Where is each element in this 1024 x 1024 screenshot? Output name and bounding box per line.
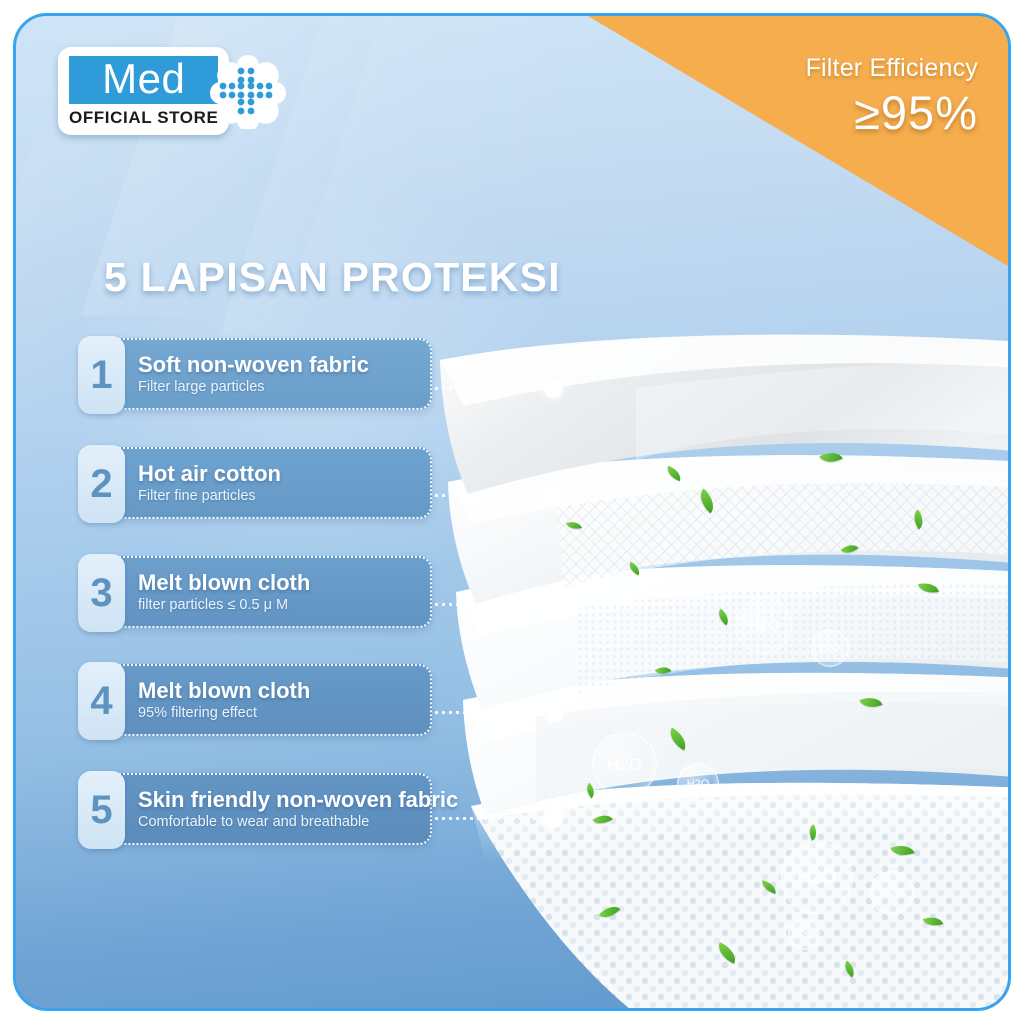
layer-card-4[interactable]: 4 Melt blown cloth 95% filtering effect: [82, 664, 432, 736]
connector-line-3: [426, 603, 556, 606]
h2o-label: H2O: [795, 929, 814, 939]
connector-line-2: [426, 494, 556, 497]
layer-title: Melt blown cloth: [138, 678, 310, 703]
h2o-bubble: H2O: [677, 763, 719, 805]
h2o-label: H2O: [881, 887, 904, 899]
layer-title: Melt blown cloth: [138, 570, 310, 595]
leaf-icon: [665, 466, 684, 481]
leaf-icon: [806, 824, 821, 841]
leaf-icon: [841, 540, 859, 557]
infographic-page: H2O H2O H2O H2O H2O H2O H2O Filter Effic…: [0, 0, 1024, 1024]
layer-number-badge: 2: [78, 445, 125, 523]
h2o-bubble: H2O: [735, 597, 792, 654]
h2o-bubble: H2O: [788, 918, 820, 950]
layer-number-badge: 1: [78, 336, 125, 414]
layer-title: Hot air cotton: [138, 461, 281, 486]
filter-efficiency-banner: Filter Efficiency ≥95%: [588, 16, 1008, 266]
connector-line-1: [426, 387, 556, 390]
brand-name: Med: [69, 56, 218, 104]
layer-number-badge: 3: [78, 554, 125, 632]
poster-frame: H2O H2O H2O H2O H2O H2O H2O Filter Effic…: [13, 13, 1011, 1011]
layer-title: Skin friendly non-woven fabric: [138, 787, 458, 812]
leaf-icon: [841, 960, 859, 977]
leaf-icon: [909, 509, 928, 529]
page-title: 5 LAPISAN PROTEKSI: [104, 254, 561, 301]
h2o-label: H2O: [687, 778, 710, 790]
h2o-label: H2O: [607, 755, 642, 775]
medical-cross-dots-icon: [210, 53, 286, 129]
layer-card-1[interactable]: 1 Soft non-woven fabric Filter large par…: [82, 338, 432, 410]
leaf-icon: [627, 562, 643, 576]
leaf-icon: [592, 810, 612, 829]
layer-card-2[interactable]: 2 Hot air cotton Filter fine particles: [82, 447, 432, 519]
layer-card-3[interactable]: 3 Melt blown cloth filter particles ≤ 0.…: [82, 556, 432, 628]
connector-dot-5: [544, 809, 563, 828]
h2o-label: H2O: [797, 867, 836, 889]
leaf-icon: [859, 693, 882, 713]
h2o-bubble: H2O: [592, 732, 657, 797]
connector-dot-2: [544, 486, 563, 505]
brand-logo[interactable]: Med OFFICIAL STORE: [58, 47, 229, 135]
layer-subtitle: Filter fine particles: [138, 487, 281, 505]
h2o-bubble: H2O: [781, 842, 853, 914]
leaf-icon: [715, 608, 733, 625]
brand-tagline: OFFICIAL STORE: [69, 108, 218, 128]
leaf-icon: [655, 663, 672, 678]
logo-plate: Med OFFICIAL STORE: [58, 47, 229, 135]
layer-subtitle: 95% filtering effect: [138, 704, 310, 722]
h2o-label: H2O: [748, 617, 779, 634]
connector-dot-4: [544, 703, 563, 722]
fabric-layer-4: [463, 673, 1011, 816]
connector-dot-1: [544, 379, 563, 398]
layer-subtitle: Filter large particles: [138, 378, 369, 396]
leaf-icon: [918, 580, 939, 596]
leaf-icon: [890, 841, 914, 860]
filter-efficiency-label: Filter Efficiency: [806, 54, 978, 83]
leaf-icon: [599, 901, 621, 923]
h2o-bubble: H2O: [870, 871, 914, 915]
leaf-icon: [819, 447, 843, 468]
layer-title: Soft non-woven fabric: [138, 352, 369, 377]
h2o-bubble: H2O: [811, 629, 849, 667]
leaf-icon: [923, 913, 944, 929]
h2o-label: H2O: [820, 643, 841, 654]
leaf-icon: [665, 727, 691, 750]
leaf-icon: [714, 942, 740, 964]
layer-number-badge: 5: [78, 771, 125, 849]
connector-line-4: [426, 711, 556, 714]
layer-subtitle: Comfortable to wear and breathable: [138, 813, 458, 831]
layer-card-5[interactable]: 5 Skin friendly non-woven fabric Comfort…: [82, 773, 432, 845]
layer-subtitle: filter particles ≤ 0.5 μ M: [138, 596, 310, 614]
leaf-icon: [760, 880, 778, 894]
connector-dot-3: [544, 595, 563, 614]
leaf-icon: [583, 783, 598, 799]
leaf-icon: [566, 519, 582, 531]
leaf-icon: [694, 488, 720, 513]
layer-number-badge: 4: [78, 662, 125, 740]
filter-efficiency-value: ≥95%: [806, 85, 978, 140]
